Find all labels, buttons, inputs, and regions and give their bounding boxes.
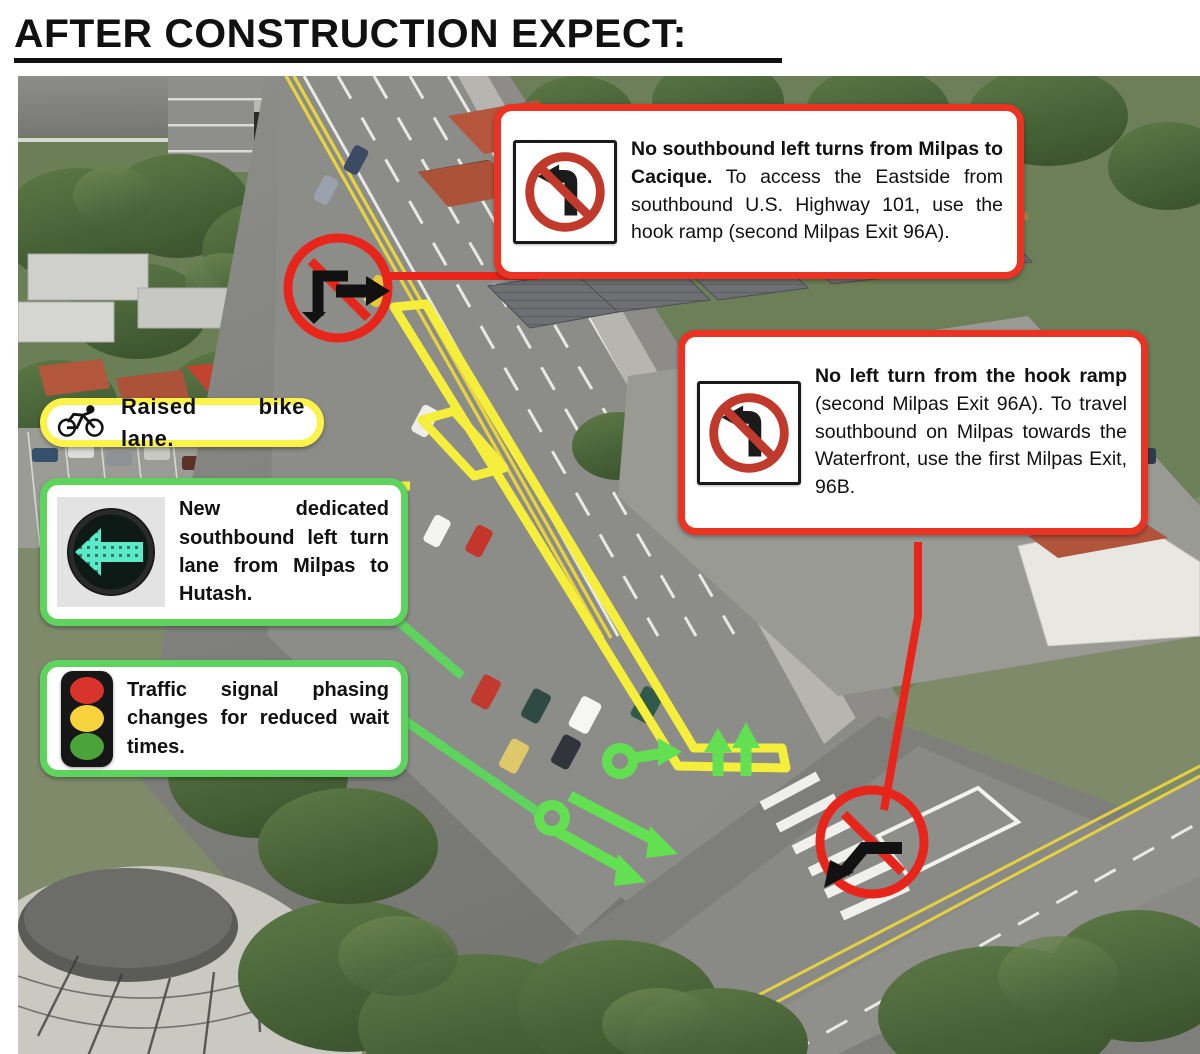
signal-lamp-green (70, 733, 104, 760)
callout-text-5: Traffic signal phasing changes for reduc… (127, 676, 389, 761)
no-left-turn-sign (697, 381, 801, 485)
signal-lamp-red (70, 677, 104, 704)
title-underline (14, 58, 782, 63)
callout-text-1: No southbound left turns from Milpas to … (631, 136, 1003, 247)
callout-text-4: New dedicated southbound left turn lane … (179, 495, 389, 609)
callout-raised-bike-lane[interactable]: Raised bike lane. (40, 398, 324, 447)
title-bar: AFTER CONSTRUCTION EXPECT: (0, 0, 1200, 75)
callout-rest-2: (second Milpas Exit 96A). To travel sout… (815, 393, 1127, 498)
callout-no-left-turn-hook-ramp[interactable]: No left turn from the hook ramp (second … (678, 330, 1148, 535)
callout-new-dedicated-left-turn-lane[interactable]: New dedicated southbound left turn lane … (40, 478, 408, 626)
infographic-root: AFTER CONSTRUCTION EXPECT: (0, 0, 1200, 1054)
traffic-light-icon (61, 671, 113, 767)
callout-traffic-signal-phasing[interactable]: Traffic signal phasing changes for reduc… (40, 660, 408, 777)
callout-text-2: No left turn from the hook ramp (second … (815, 363, 1127, 501)
bicycle-icon (57, 404, 107, 442)
callout-no-southbound-left-turns[interactable]: No southbound left turns from Milpas to … (494, 104, 1024, 279)
page-title: AFTER CONSTRUCTION EXPECT: (14, 12, 687, 57)
green-left-arrow-signal (57, 497, 165, 607)
signal-lamp-amber (70, 705, 104, 732)
no-left-turn-sign (513, 140, 617, 244)
callout-bold-2: No left turn from the hook ramp (815, 365, 1127, 387)
callout-text-3: Raised bike lane. (121, 391, 305, 453)
